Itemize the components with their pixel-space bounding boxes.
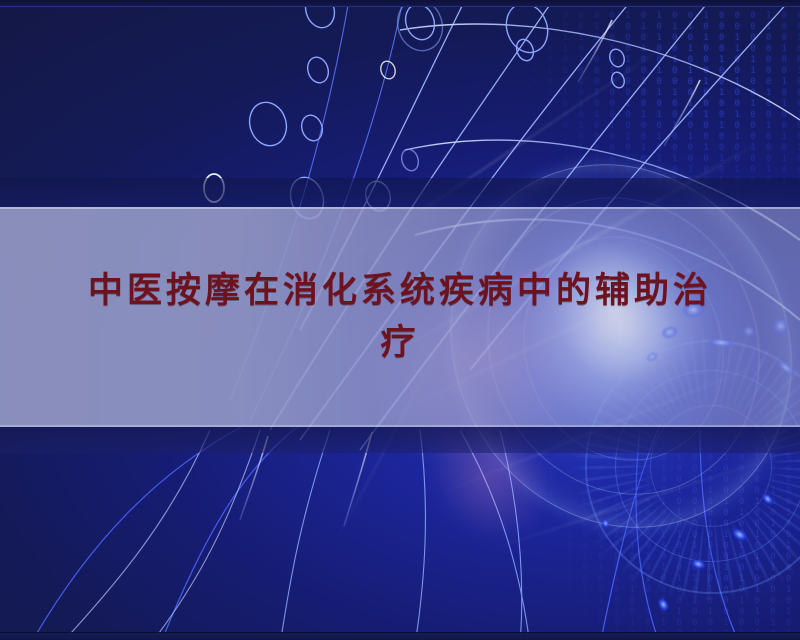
title-container: 中医按摩在消化系统疾病中的辅助治疗 — [0, 207, 800, 427]
top-hairline — [0, 6, 800, 7]
banner-shadow-bottom — [0, 427, 800, 453]
slide-title: 中医按摩在消化系统疾病中的辅助治疗 — [80, 265, 720, 369]
bottom-edge-strip — [0, 633, 800, 640]
banner-shadow-top — [0, 178, 800, 207]
slide-canvas: 0 1 0 0 1 0 0 0 1 1 0 0 1 0 0 0 1 0 0 1 … — [0, 0, 800, 640]
